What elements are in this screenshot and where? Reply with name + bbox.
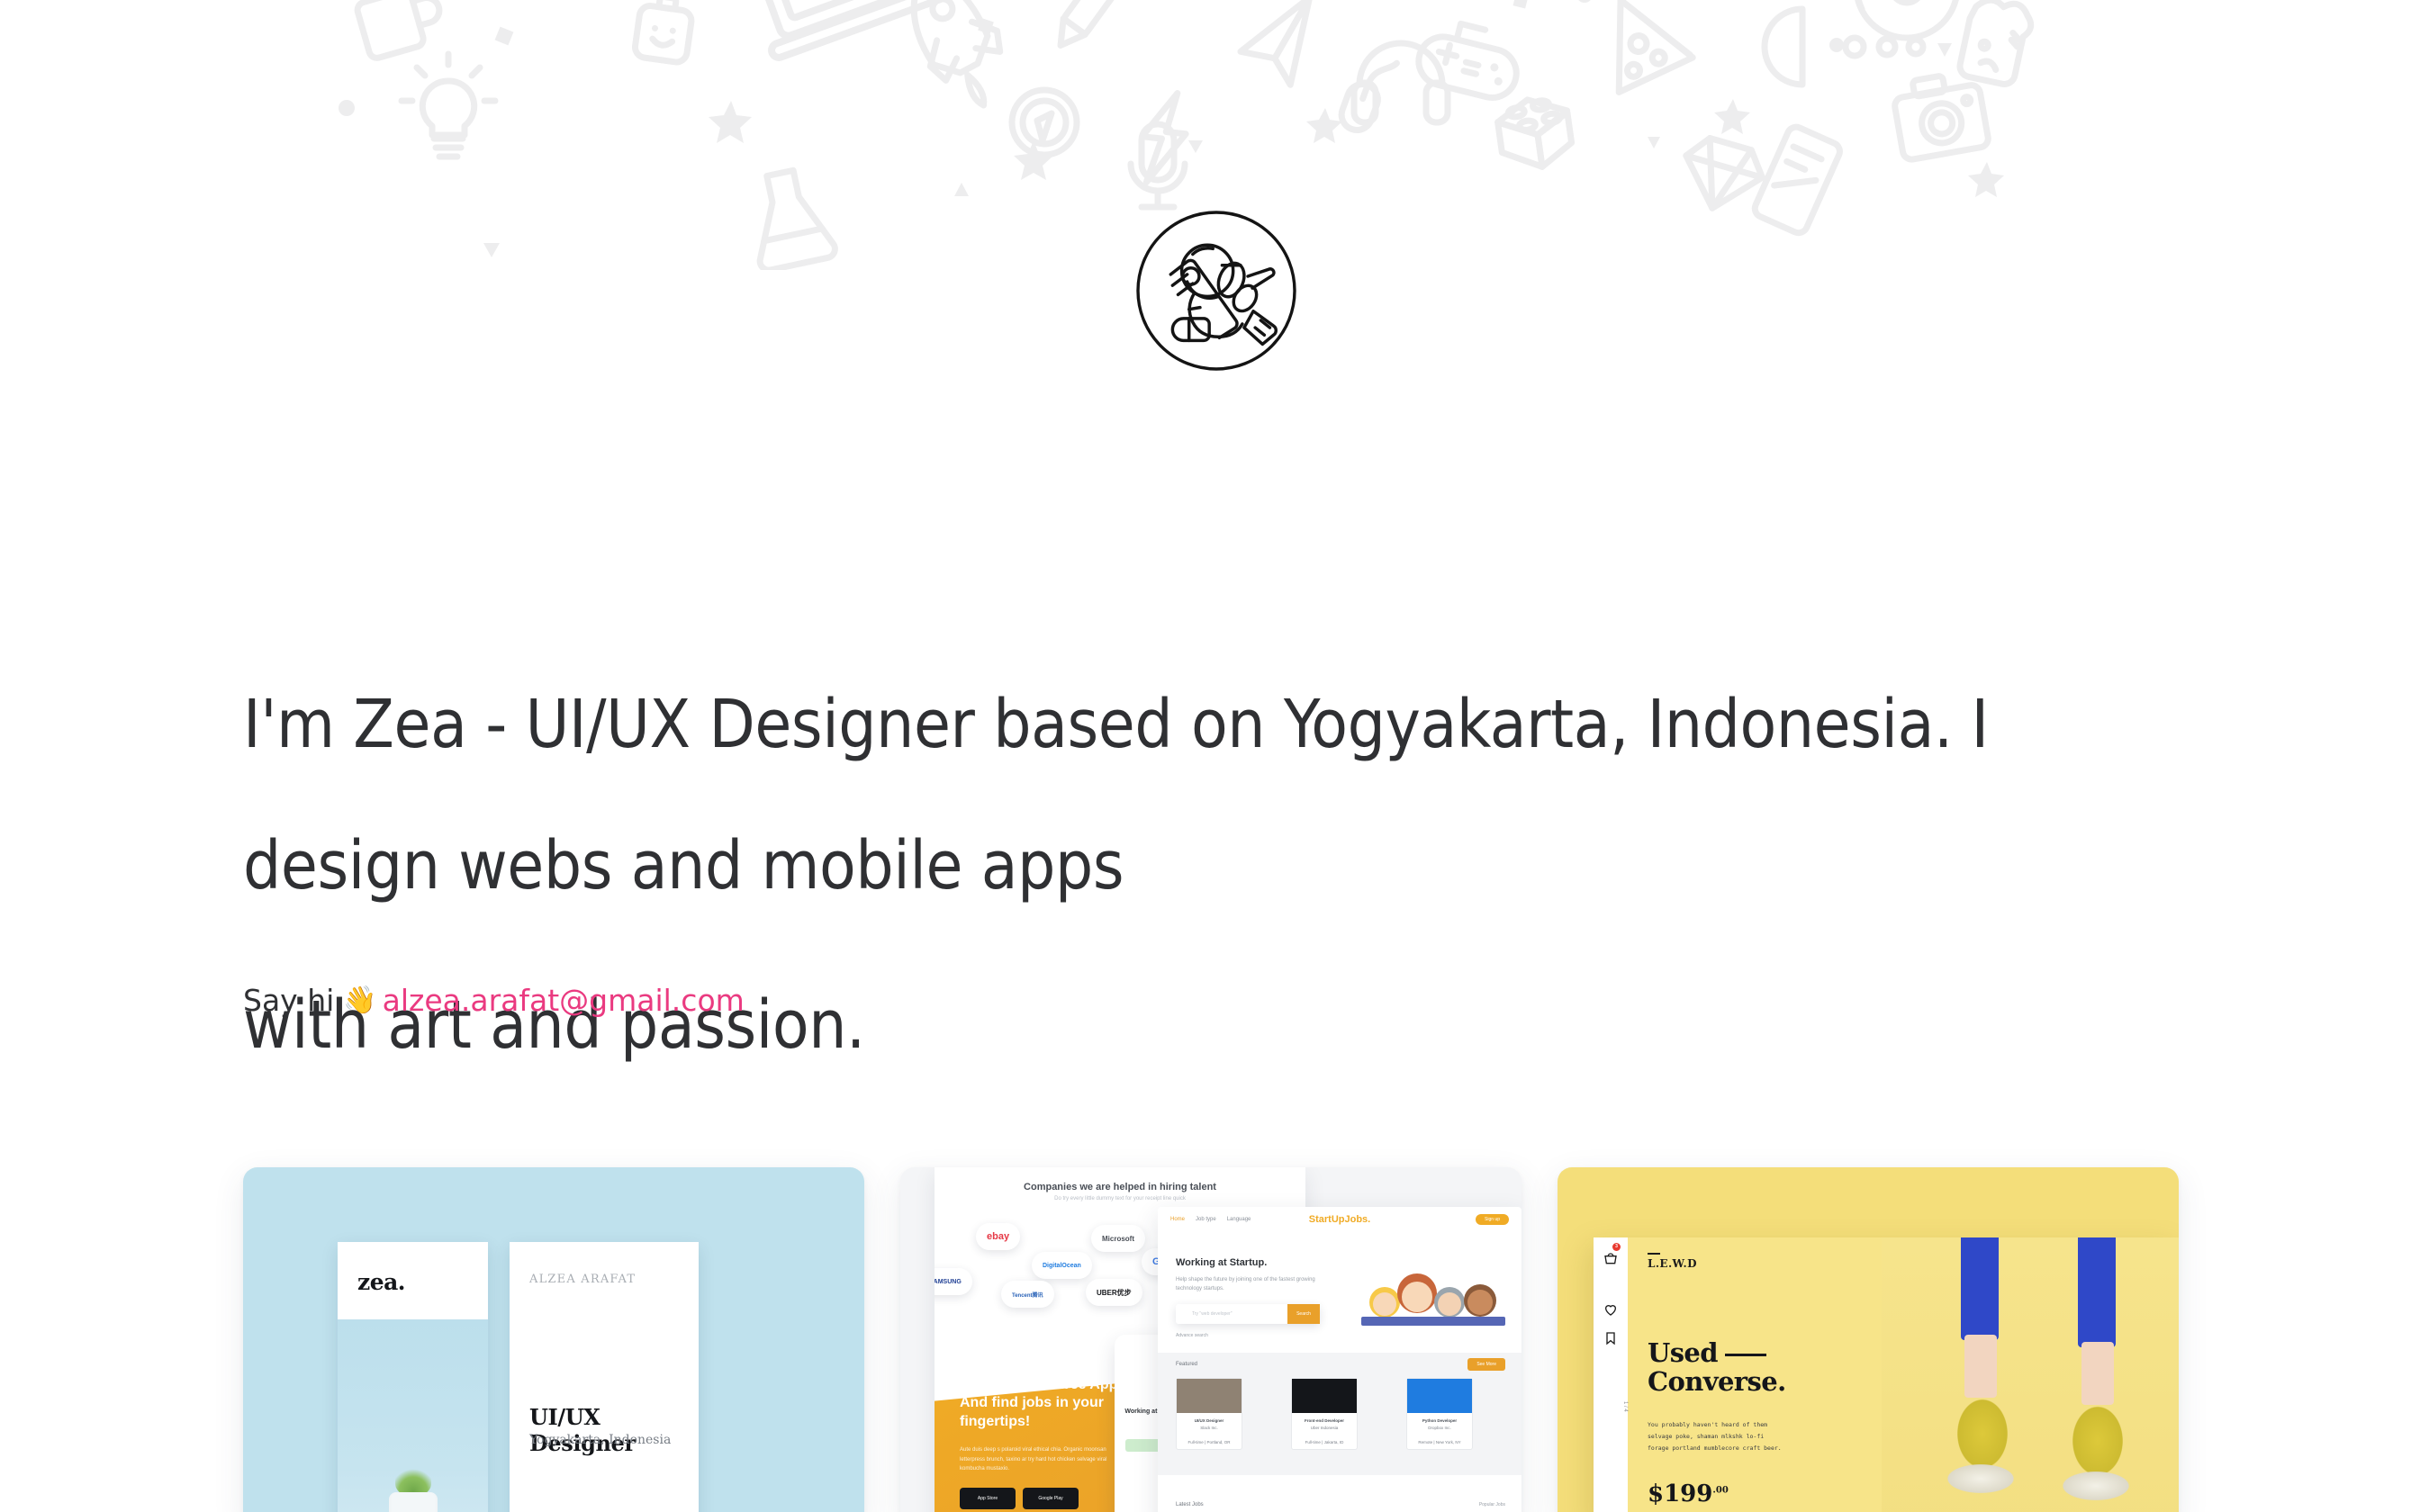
webapp-mockup: Home Job type Language StartUpJobs. Sign… [1158, 1207, 1522, 1512]
job-card-1-meta: Full-time | Jakarta, ID [1292, 1440, 1357, 1444]
project-card-startupjobs[interactable]: Companies we are helped in hiring talent… [900, 1167, 1522, 1512]
promo-heading-line-2: And find jobs in your fingertips! [960, 1395, 1104, 1429]
app-navbar: Home Job type Language StartUpJobs. Sign… [1158, 1207, 1522, 1232]
business-card-mockup: ALZEA ARAFAT UI/UX Designer Yogyakarta, … [510, 1242, 699, 1512]
popular-jobs-filter[interactable]: Popular Jobs [1479, 1502, 1505, 1507]
right-ankle-shape [2081, 1342, 2114, 1405]
waving-hand-icon: 👋 [343, 987, 376, 1014]
ecommerce-mockup: 3 1 / 4 L.E.W.D Used Converse. You proba… [1594, 1237, 2179, 1512]
left-ankle-shape [1964, 1335, 1997, 1398]
business-card-role: UI/UX Designer [529, 1404, 699, 1456]
business-card-name: ALZEA ARAFAT [529, 1273, 636, 1286]
nav-home[interactable]: Home [1170, 1217, 1185, 1222]
signup-button[interactable]: Sign up [1476, 1214, 1509, 1225]
logo-chip-microsoft: Microsoft [1091, 1225, 1145, 1252]
job-card-1-image [1292, 1379, 1357, 1413]
project-card-lewd[interactable]: 3 1 / 4 L.E.W.D Used Converse. You proba… [1558, 1167, 2179, 1512]
logo-chip-ebay: ebay [976, 1223, 1020, 1250]
converse-product-photo [1882, 1237, 2179, 1512]
brand-card-mockup: zea. [338, 1242, 488, 1512]
job-card-2-title: Python Developer [1407, 1418, 1472, 1423]
team-illustration-icon [1356, 1257, 1509, 1329]
job-card-1[interactable]: Front-end Developer Uber Indonesia Full-… [1291, 1378, 1358, 1450]
pot-shape [389, 1492, 438, 1512]
heading-dash [1725, 1354, 1766, 1356]
cart-badge: 3 [1612, 1243, 1621, 1251]
product-price: $199.00 [1648, 1480, 1729, 1507]
project-gallery: zea. ALZEA ARAFAT UI/UX Designer Yogyaka… [243, 1167, 2179, 1512]
job-card-1-title: Front-end Developer [1292, 1418, 1357, 1423]
bookmark-icon[interactable] [1603, 1331, 1618, 1345]
headline-line-1: I'm Zea - UI/UX Designer based on Yogyak… [243, 689, 2089, 760]
nav-jobtype[interactable]: Job type [1196, 1217, 1216, 1222]
logo-chip-uber: UBER优步 [1086, 1279, 1142, 1306]
logo-chip-digitalocean: DigitalOcean [1032, 1252, 1092, 1279]
job-card-1-company: Uber Indonesia [1292, 1426, 1357, 1430]
app-store-button[interactable]: App Store [960, 1488, 1016, 1509]
latest-jobs-label: Latest Jobs [1176, 1502, 1204, 1507]
portfolio-page: I'm Zea - UI/UX Designer based on Yogyak… [0, 0, 2420, 1512]
brand-wordmark: zea. [357, 1269, 405, 1295]
google-play-button[interactable]: Google Play [1023, 1488, 1079, 1509]
astronaut-logo-icon[interactable] [1131, 205, 1302, 376]
contact-line: Say hi 👋 alzea.arafat@gmail.com [243, 983, 745, 1019]
logo-chip-samsung: SAMSUNG [935, 1268, 972, 1295]
job-card-2-image [1407, 1379, 1472, 1413]
carousel-pager: 1 / 4 [1594, 1389, 1628, 1425]
business-card-location: Yogyakarta, Indonesia [529, 1433, 671, 1447]
left-leg-shape [1961, 1237, 1999, 1340]
app-search-input[interactable]: Try "web developer" Search [1176, 1304, 1320, 1324]
product-description: You probably haven't heard of them selva… [1648, 1419, 1783, 1454]
price-amount: $199 [1648, 1480, 1712, 1507]
nav-language[interactable]: Language [1227, 1217, 1251, 1222]
right-leg-shape [2078, 1237, 2116, 1347]
heart-icon[interactable] [1603, 1302, 1618, 1317]
job-card-0-image [1177, 1379, 1242, 1413]
job-card-0-company: Slack Inc. [1177, 1426, 1242, 1430]
job-card-2[interactable]: Python Developer Dropbox Inc. Remote | N… [1406, 1378, 1473, 1450]
job-card-0-meta: Full-time | Portland, OR [1177, 1440, 1242, 1444]
price-cents: .00 [1712, 1485, 1728, 1495]
search-button[interactable]: Search [1287, 1304, 1320, 1324]
headline-line-2: design webs and mobile apps [243, 831, 2089, 901]
landing-title: Companies we are helped in hiring talent [935, 1182, 1305, 1192]
contact-prefix: Say hi [243, 983, 334, 1019]
app-hero-title: Working at Startup. [1176, 1257, 1267, 1268]
email-link[interactable]: alzea.arafat@gmail.com [383, 983, 745, 1019]
see-more-button[interactable]: See More [1467, 1358, 1505, 1371]
job-card-0-title: UI/UX Designer [1177, 1418, 1242, 1423]
product-heading: Used Converse. [1648, 1338, 1810, 1397]
cart-icon[interactable] [1603, 1252, 1618, 1266]
product-heading-line-1: Used [1648, 1337, 1718, 1368]
advance-search-toggle[interactable]: Advance search [1176, 1333, 1208, 1338]
featured-label: Featured [1176, 1362, 1197, 1367]
promo-body: Aute duis deep s polaroid viral ethical … [960, 1445, 1122, 1473]
logo-chip-tencent: Tencent腾讯 [1001, 1281, 1054, 1308]
side-rail: 3 1 / 4 [1594, 1237, 1628, 1512]
search-placeholder-text: Try "web developer" [1192, 1311, 1233, 1317]
plant-photo [338, 1319, 488, 1512]
promo-heading-line-1: Download our free App, [960, 1377, 1122, 1392]
job-card-0[interactable]: UI/UX Designer Slack Inc. Full-time | Po… [1176, 1378, 1242, 1450]
plant-icon [395, 1465, 431, 1496]
store-brand-logo: L.E.W.D [1648, 1257, 1697, 1270]
landing-subtitle: Do try every little dummy text for your … [935, 1196, 1305, 1201]
job-card-2-company: Dropbox Inc. [1407, 1426, 1472, 1430]
page-title: I'm Zea - UI/UX Designer based on Yogyak… [243, 619, 2089, 1131]
app-hero-body: Help shape the future by joining one of … [1176, 1275, 1320, 1293]
project-card-personal-branding[interactable]: zea. ALZEA ARAFAT UI/UX Designer Yogyaka… [243, 1167, 864, 1512]
product-heading-line-2: Converse. [1648, 1366, 1786, 1397]
app-brand-logo: StartUpJobs. [1309, 1214, 1370, 1225]
job-card-2-meta: Remote | New York, NY [1407, 1440, 1472, 1444]
